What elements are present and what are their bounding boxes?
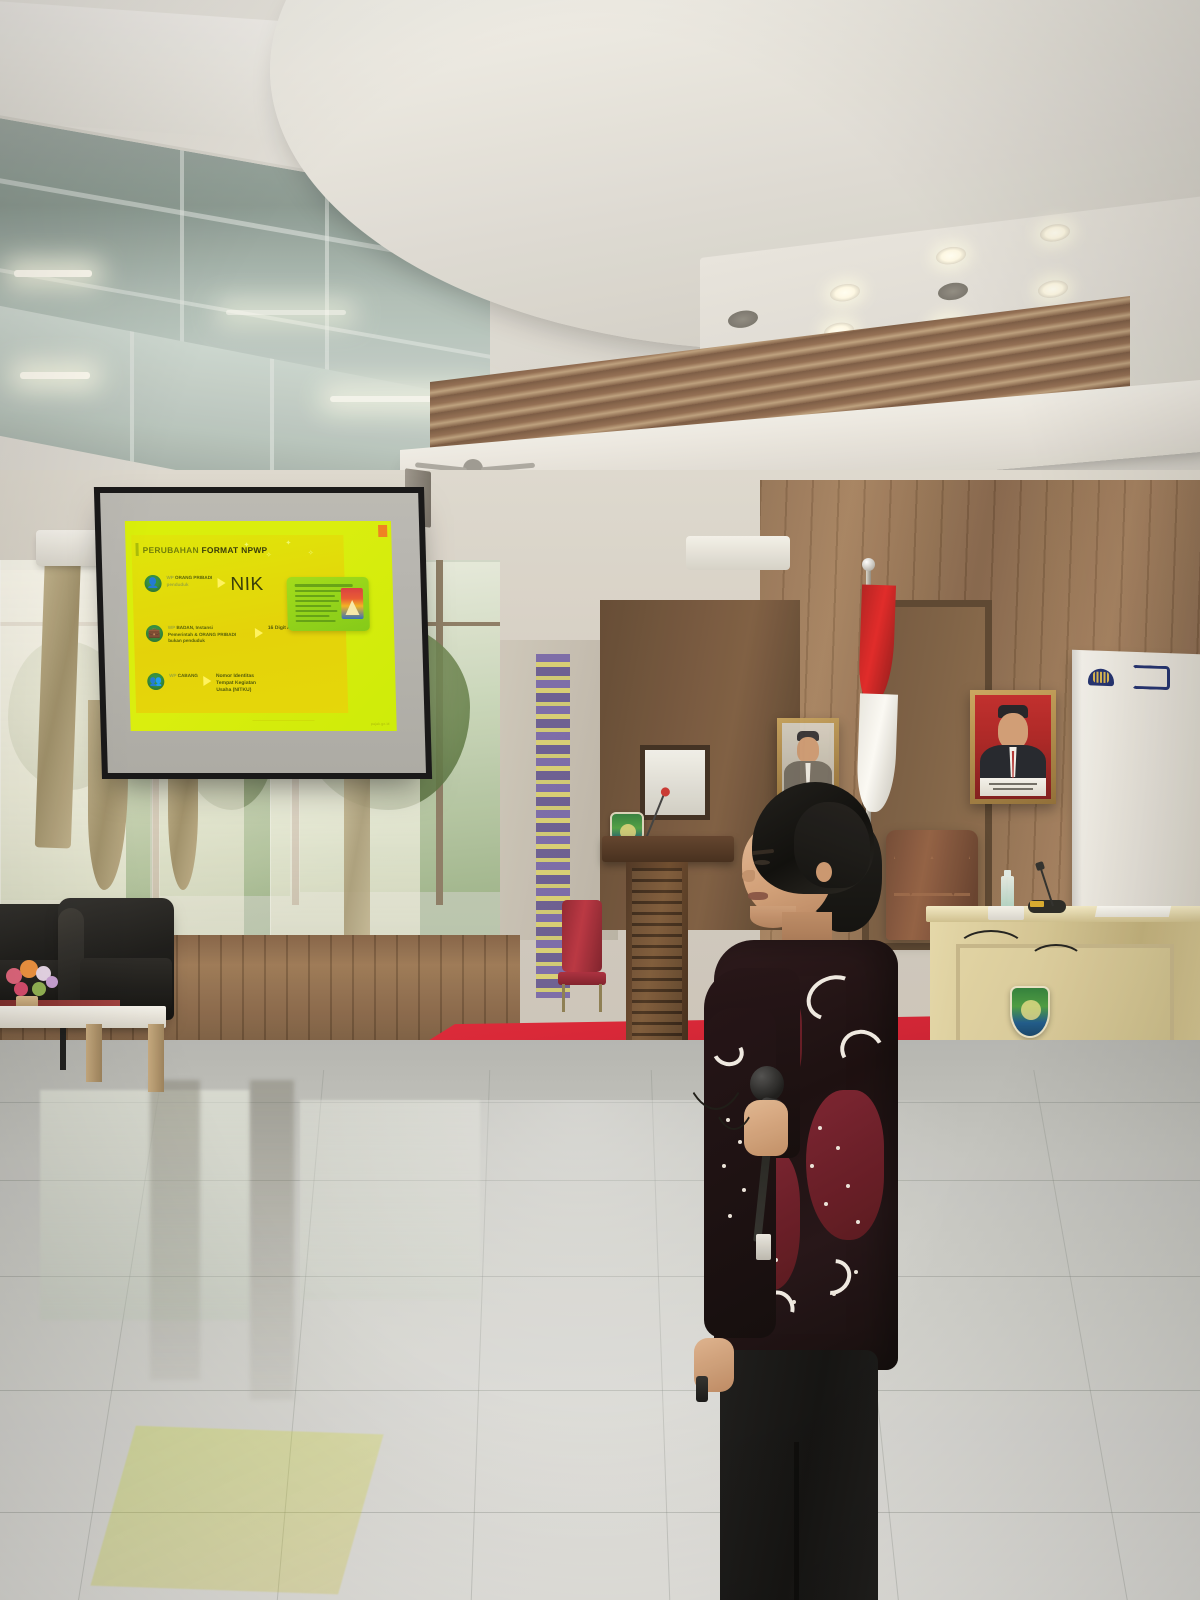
seminar-photo-scene: PERUBAHAN FORMAT NPWP ✦ ✧ ✦ ✧ 👤 WP ORANG… — [0, 0, 1200, 1600]
red-banquet-chair — [558, 900, 606, 1012]
nose — [742, 870, 755, 882]
microphone-cable — [706, 990, 762, 1130]
mouth — [748, 892, 768, 900]
cable — [956, 930, 1026, 970]
arrow-icon — [203, 676, 211, 686]
desk-microphone-base — [1028, 900, 1066, 913]
ktp-id-card-illustration — [286, 577, 370, 631]
trousers — [720, 1350, 878, 1600]
coffee-table — [0, 1006, 166, 1028]
hair-side — [794, 802, 870, 888]
trouser-seam — [794, 1442, 799, 1600]
strip-light — [14, 270, 92, 277]
ear — [816, 862, 832, 882]
portrait-nameplate — [980, 778, 1047, 796]
floor-reflection — [150, 1080, 200, 1380]
paper-sheet — [1095, 906, 1171, 917]
slide-row-label: WP CABANG — [169, 673, 198, 680]
flower — [32, 982, 46, 996]
presentation-clicker — [696, 1376, 708, 1402]
flower — [46, 976, 58, 988]
building-person-icon: 💼 — [146, 625, 163, 642]
table-leg — [86, 1024, 102, 1082]
flower — [14, 982, 28, 996]
slide-row-value: Nomor Identitas Tempat Kegiatan Usaha (N… — [216, 673, 265, 694]
slide-row: 👤 WP ORANG PRIBADI penduduk NIK — [144, 575, 264, 594]
group-icon: 👥 — [147, 673, 164, 690]
arrow-icon — [217, 578, 225, 588]
slide-footer: pajak.go.id — [371, 722, 390, 726]
strip-light — [226, 310, 346, 315]
floor-reflection — [40, 1090, 250, 1320]
floor-reflection — [250, 1080, 294, 1400]
person-icon: 👤 — [144, 575, 161, 592]
slide-row-value: NIK — [230, 575, 264, 594]
slide-accent-corner — [378, 525, 387, 537]
presentation-slide: PERUBAHAN FORMAT NPWP ✦ ✧ ✦ ✧ 👤 WP ORANG… — [125, 521, 397, 731]
air-conditioner — [686, 536, 790, 570]
strip-light — [20, 372, 90, 379]
eye — [754, 860, 770, 865]
id-photo — [341, 588, 364, 619]
id-badge — [756, 1234, 771, 1260]
slide-row: 👥 WP CABANG Nomor Identitas Tempat Kegia… — [147, 673, 264, 694]
slide-row-label: WP ORANG PRIBADI penduduk — [166, 575, 212, 588]
presenter — [666, 782, 916, 1552]
screen-surface: PERUBAHAN FORMAT NPWP ✦ ✧ ✦ ✧ 👤 WP ORANG… — [100, 493, 426, 773]
slide-row-label: WP BADAN, Instansi Pemerintah & ORANG PR… — [168, 625, 251, 645]
slide-row: 💼 WP BADAN, Instansi Pemerintah & ORANG … — [146, 625, 309, 645]
projection-screen: PERUBAHAN FORMAT NPWP ✦ ✧ ✦ ✧ 👤 WP ORANG… — [94, 487, 432, 779]
arrow-icon — [255, 628, 263, 638]
banner-secondary-logo — [1132, 665, 1170, 690]
power-strip — [988, 906, 1024, 920]
regional-emblem-desk — [1010, 986, 1050, 1038]
president-portrait — [970, 690, 1056, 804]
kemenkeu-logo — [1088, 662, 1114, 689]
cable — [1028, 944, 1084, 978]
table-leg — [148, 1024, 164, 1092]
